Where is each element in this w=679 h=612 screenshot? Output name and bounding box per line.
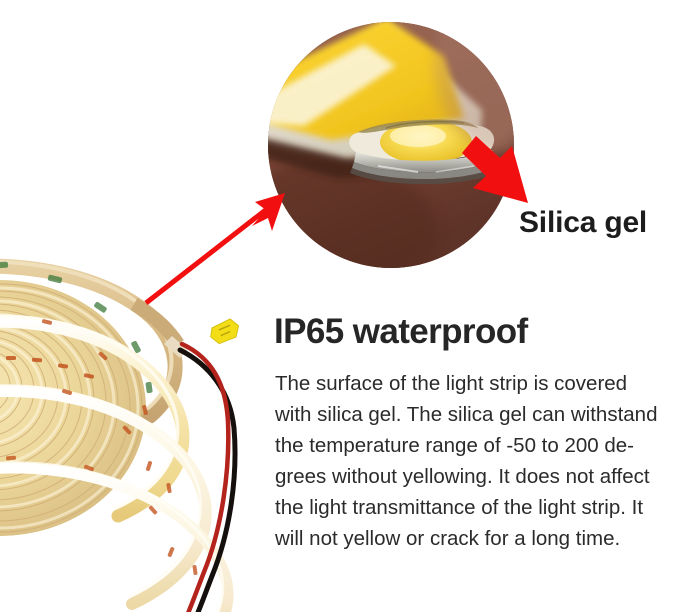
feature-description: The surface of the light strip is covere… [275,368,659,554]
description-line: the temperature range of -50 to 200 de- [275,430,659,461]
feature-headline: IP65 waterproof [274,312,528,352]
description-line: the light transmittance of the light str… [275,492,659,523]
description-line: will not yellow or crack for a long time… [275,523,659,554]
magnified-detail-circle [268,22,514,268]
description-line: grees without yellowing. It does not aff… [275,461,659,492]
magnified-detail-graphic [268,22,514,268]
led-strip-roll-graphic [0,232,302,612]
wire-tag [207,317,242,345]
description-line: The surface of the light strip is covere… [275,368,659,399]
description-line: with silica gel. The silica gel can with… [275,399,659,430]
silica-gel-callout-label: Silica gel [519,206,647,240]
product-feature-image: Silica gel IP65 waterproof The surface o… [0,0,679,612]
led-strip-roll [0,232,302,612]
